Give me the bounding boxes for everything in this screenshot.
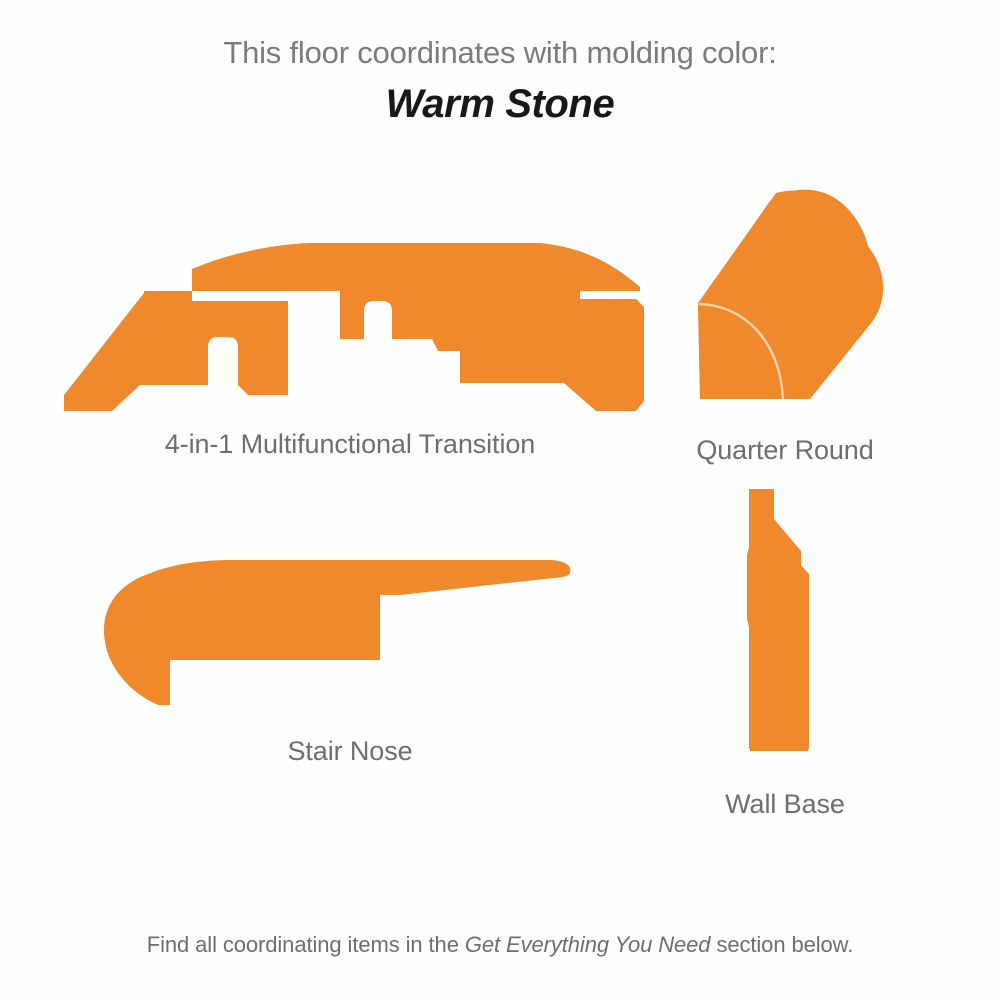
transition-label: 4-in-1 Multifunctional Transition bbox=[40, 429, 660, 460]
footer-text-after: section below. bbox=[710, 932, 853, 957]
stair-nose-art bbox=[80, 550, 620, 710]
footer: Find all coordinating items in the Get E… bbox=[0, 932, 1000, 958]
header: This floor coordinates with molding colo… bbox=[0, 34, 1000, 130]
molding-color-name: Warm Stone bbox=[0, 78, 1000, 130]
quarter-round-profile-shape bbox=[620, 175, 950, 415]
quarter-round-art bbox=[620, 175, 950, 415]
footer-text-before: Find all coordinating items in the bbox=[147, 932, 465, 957]
product-cell-wall-base[interactable]: Wall Base bbox=[620, 475, 950, 820]
product-cell-stair-nose[interactable]: Stair Nose bbox=[80, 550, 620, 767]
footer-text-emphasis: Get Everything You Need bbox=[465, 932, 711, 957]
transition-art bbox=[40, 235, 660, 415]
product-cell-transition[interactable]: 4-in-1 Multifunctional Transition bbox=[40, 235, 660, 460]
transition-profile-shape bbox=[40, 235, 660, 415]
product-cell-quarter-round[interactable]: Quarter Round bbox=[620, 175, 950, 466]
molding-coordination-panel: This floor coordinates with molding colo… bbox=[0, 0, 1000, 1000]
wall-base-art bbox=[620, 475, 950, 765]
quarter-round-label: Quarter Round bbox=[620, 435, 950, 466]
product-grid: 4-in-1 Multifunctional Transition Quarte… bbox=[0, 175, 1000, 875]
stair-nose-profile-shape bbox=[80, 550, 620, 710]
stair-nose-label: Stair Nose bbox=[80, 736, 620, 767]
wall-base-profile-shape bbox=[620, 475, 950, 765]
page-title-intro: This floor coordinates with molding colo… bbox=[0, 34, 1000, 72]
footer-note: Find all coordinating items in the Get E… bbox=[0, 932, 1000, 958]
wall-base-label: Wall Base bbox=[620, 789, 950, 820]
